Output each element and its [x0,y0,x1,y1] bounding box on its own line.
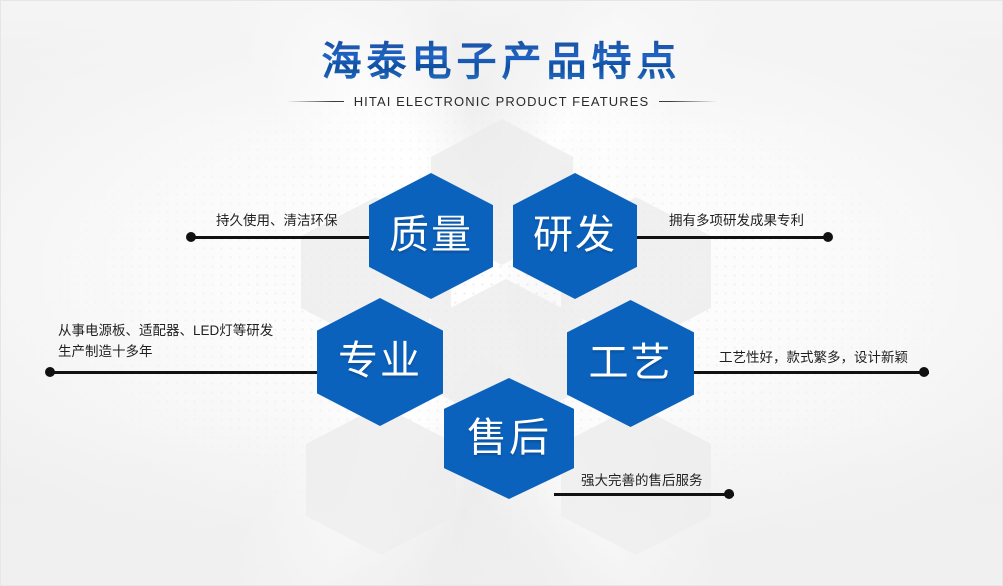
connector-line-professional [54,371,324,374]
caption-professional: 从事电源板、适配器、LED灯等研发 生产制造十多年 [58,321,273,363]
subtitle-row: HITAI ELECTRONIC PRODUCT FEATURES [1,94,1002,109]
hexagon-label-professional: 专业 [338,341,422,381]
hexagon-label-rd: 研发 [533,215,617,255]
subtitle-dash-left [286,101,344,102]
connector-dot-craft [919,367,929,377]
hexagon-label-aftersales: 售后 [467,418,551,458]
caption-craft: 工艺性好，款式繁多，设计新颖 [719,348,908,369]
header: 海泰电子产品特点 HITAI ELECTRONIC PRODUCT FEATUR… [1,39,1002,109]
page-title: 海泰电子产品特点 [1,39,1002,85]
connector-dot-quality [186,232,196,242]
connector-dot-professional [45,367,55,377]
caption-rd: 拥有多项研发成果专利 [669,211,804,232]
hexagon-label-craft: 工艺 [589,343,673,383]
caption-quality: 持久使用、清洁环保 [216,211,338,232]
connector-line-rd [633,236,829,239]
subtitle-dash-right [659,101,717,102]
connector-line-craft [691,371,929,374]
connector-dot-rd [823,232,833,242]
caption-aftersales: 强大完善的售后服务 [581,471,703,492]
infographic-canvas: 海泰电子产品特点 HITAI ELECTRONIC PRODUCT FEATUR… [0,0,1003,586]
connector-dot-aftersales [724,489,734,499]
connector-line-quality [191,236,373,239]
hexagon-label-quality: 质量 [389,215,473,255]
page-subtitle: HITAI ELECTRONIC PRODUCT FEATURES [354,94,650,109]
connector-line-aftersales [554,493,734,496]
